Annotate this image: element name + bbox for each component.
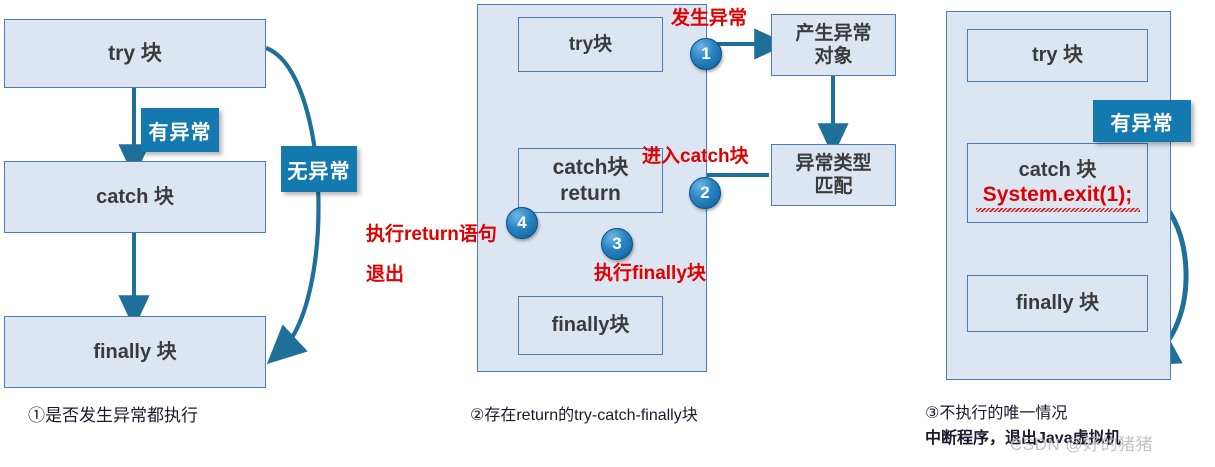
box-label: finally块 [552, 313, 630, 337]
annotation-line2: 退出 [366, 262, 497, 288]
label-text: 有异常 [1111, 107, 1174, 136]
box-label-line2: return [560, 181, 621, 207]
box-p2-create-exception-object[interactable]: 产生异常 对象 [771, 14, 896, 76]
box-label: catch 块 [96, 185, 174, 209]
spellcheck-squiggle-underline [976, 208, 1140, 212]
box-label-line2: 对象 [814, 45, 852, 68]
box-label: try 块 [1032, 43, 1083, 67]
box-label-line2-system-exit: System.exit(1); [983, 182, 1132, 208]
box-p1-try[interactable]: try 块 [4, 19, 266, 88]
caption-panel-2: ②存在return的try-catch-finally块 [470, 404, 698, 429]
step-marker-2: 2 [689, 177, 721, 209]
box-p2-try[interactable]: try块 [518, 17, 663, 72]
box-p3-try[interactable]: try 块 [967, 29, 1148, 82]
label-text: 有异常 [149, 116, 212, 145]
annotation-p2-step2-text: 进入catch块 [642, 144, 749, 170]
box-label-line1: catch 块 [1019, 158, 1097, 182]
label-p1-has-exception: 有异常 [141, 108, 219, 152]
box-label: try 块 [108, 41, 162, 67]
annotation-line1: 执行return语句 [366, 222, 497, 248]
label-p1-no-exception: 无异常 [281, 146, 357, 192]
label-p3-has-exception: 有异常 [1093, 100, 1191, 142]
box-label: finally 块 [1016, 291, 1099, 315]
box-label-line2: 匹配 [814, 175, 852, 198]
annotation-p2-step4-text: 执行return语句 退出 [366, 222, 497, 287]
box-label: finally 块 [93, 340, 176, 364]
caption-panel-1: ①是否发生异常都执行 [28, 403, 198, 429]
diagram-canvas: try 块 catch 块 finally 块 有异常 无异常 ①是否发生异常都… [0, 0, 1215, 467]
box-label-line1: 产生异常 [795, 22, 871, 45]
box-p2-finally[interactable]: finally块 [518, 296, 663, 355]
step-marker-3: 3 [601, 228, 633, 260]
box-label-line1: 异常类型 [795, 152, 871, 175]
box-p3-finally[interactable]: finally 块 [967, 275, 1148, 332]
box-p1-catch[interactable]: catch 块 [4, 161, 266, 233]
caption-line1: ③不执行的唯一情况 [925, 402, 1121, 427]
box-label: try块 [569, 33, 612, 56]
annotation-p2-step3-text: 执行finally块 [594, 261, 706, 287]
step-marker-1: 1 [690, 38, 722, 70]
step-marker-4: 4 [506, 207, 538, 239]
arrow-p1-try-to-finally-curve [266, 48, 318, 351]
box-p1-finally[interactable]: finally 块 [4, 316, 266, 388]
label-text: 无异常 [288, 155, 351, 184]
box-p2-exception-type-match[interactable]: 异常类型 匹配 [771, 144, 896, 206]
annotation-p2-step1-text: 发生异常 [671, 6, 747, 32]
csdn-watermark: CSDN @好的猪猪 [1010, 430, 1153, 455]
box-label-line1: catch块 [553, 155, 629, 181]
